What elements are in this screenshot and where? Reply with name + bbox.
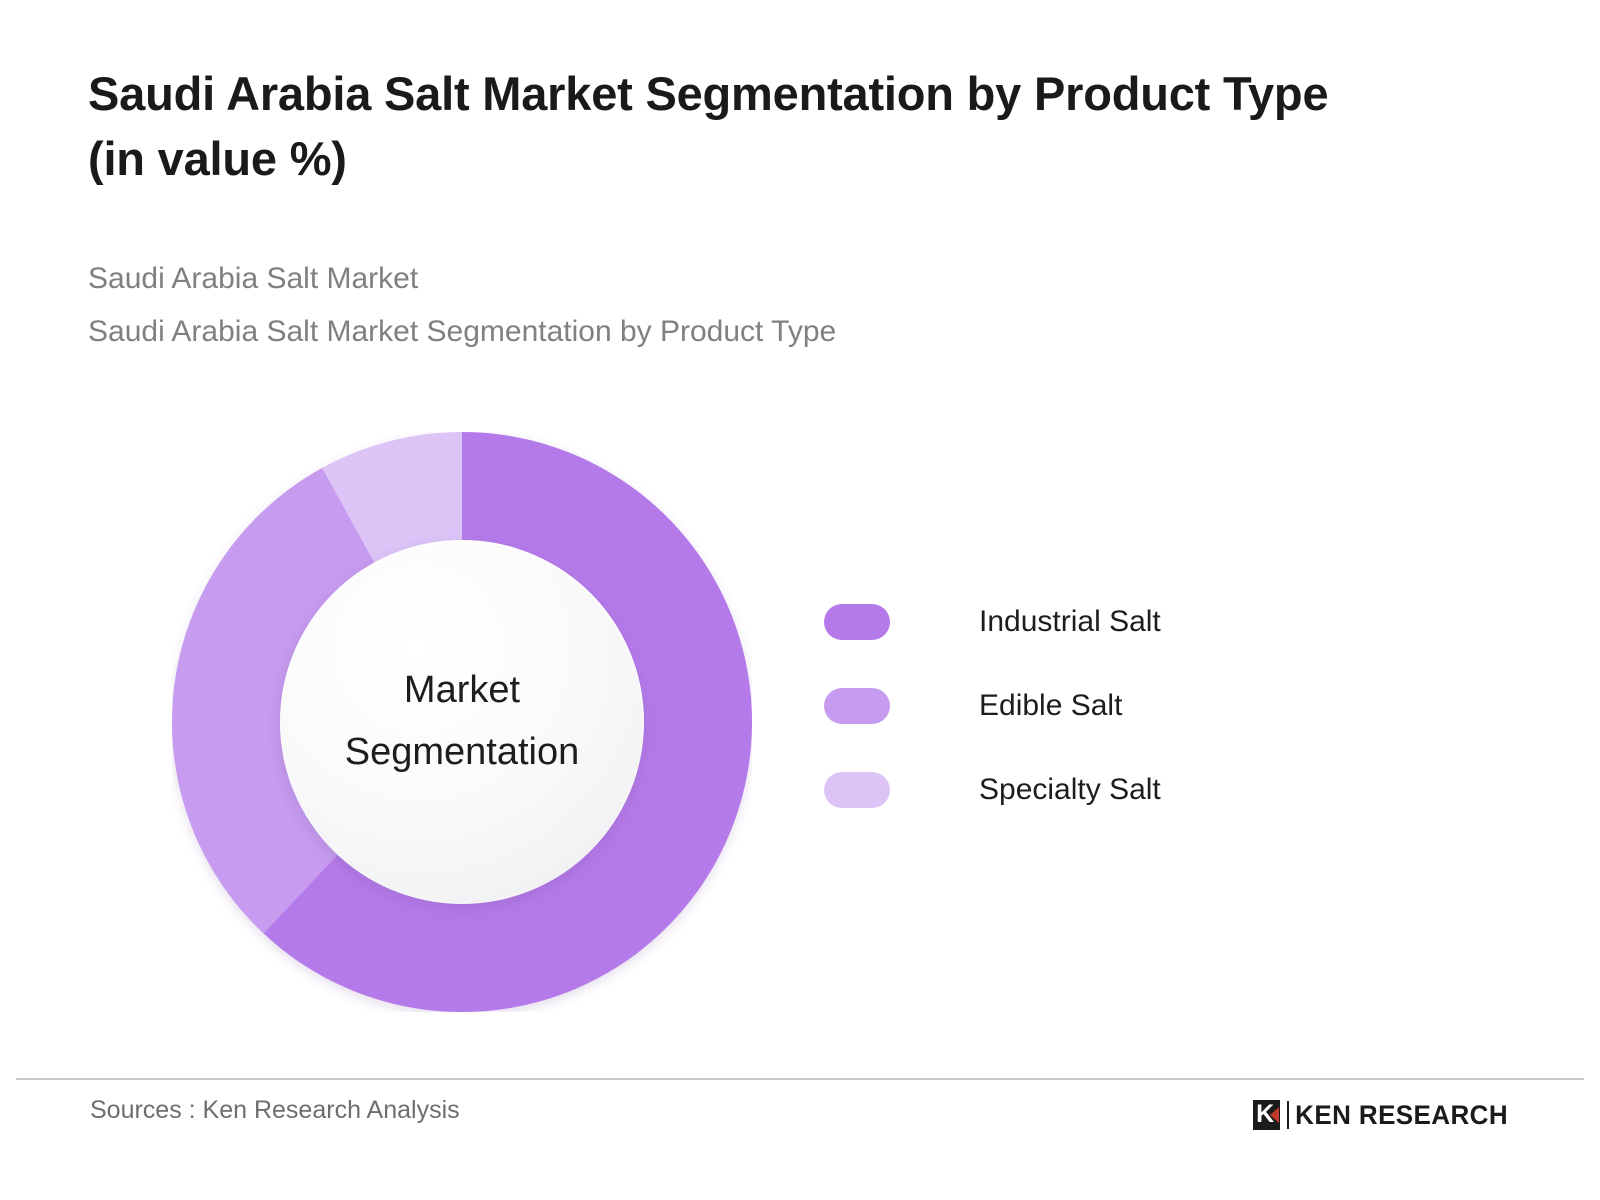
page-title-line-1: Saudi Arabia Salt Market Segmentation by… xyxy=(88,67,1328,120)
page-title-line-2: (in value %) xyxy=(88,132,347,185)
legend-item[interactable]: Edible Salt xyxy=(824,664,1344,748)
chart-legend: Industrial SaltEdible SaltSpecialty Salt xyxy=(824,580,1344,832)
brand-divider xyxy=(1287,1101,1289,1129)
slide-canvas: Saudi Arabia Salt Market Segmentation by… xyxy=(0,0,1600,1200)
legend-label: Industrial Salt xyxy=(979,605,1161,639)
chart-area: Market Segmentation Industrial SaltEdibl… xyxy=(0,400,1600,1040)
ken-research-logo: K KEN RESEARCH xyxy=(1253,1098,1508,1132)
legend-swatch-icon xyxy=(824,772,890,808)
brand-triangle-icon xyxy=(1270,1107,1279,1123)
donut-chart: Market Segmentation xyxy=(172,432,752,1012)
page-title: Saudi Arabia Salt Market Segmentation by… xyxy=(88,62,1488,192)
subtitle-line-1: Saudi Arabia Salt Market xyxy=(88,252,1388,305)
brand-k-mark-icon: K xyxy=(1253,1100,1280,1130)
legend-label: Specialty Salt xyxy=(979,773,1161,807)
subtitle-line-2: Saudi Arabia Salt Market Segmentation by… xyxy=(88,305,1388,358)
legend-item[interactable]: Industrial Salt xyxy=(824,580,1344,664)
legend-swatch-icon xyxy=(824,604,890,640)
footer-sources: Sources : Ken Research Analysis xyxy=(90,1096,460,1125)
donut-center-line-2: Segmentation xyxy=(345,722,580,784)
legend-label: Edible Salt xyxy=(979,689,1122,723)
donut-center-label: Market Segmentation xyxy=(280,540,644,904)
donut-center-line-1: Market xyxy=(404,660,520,722)
footer-divider xyxy=(16,1078,1584,1080)
legend-item[interactable]: Specialty Salt xyxy=(824,748,1344,832)
legend-swatch-icon xyxy=(824,688,890,724)
subtitle-block: Saudi Arabia Salt Market Saudi Arabia Sa… xyxy=(88,252,1388,359)
brand-name: KEN RESEARCH xyxy=(1295,1099,1508,1131)
